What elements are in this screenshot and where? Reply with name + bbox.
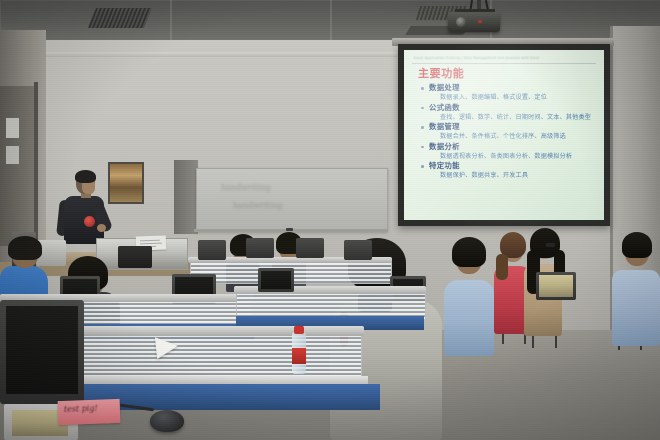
whiteboard-side-panel [174,160,198,234]
presenter-hand [97,224,106,232]
bullet-heading: 数据处理 [420,83,598,93]
slide-bullet-item: 公式函数 查找、逻辑、数学、统计、日期时间、文本、其他类型 [420,103,598,122]
slide-bullet-item: 数据处理 数据录入、数据编辑、格式设置、定位 [420,83,598,102]
monitor [258,268,294,292]
classroom-photo-scene: Excel Application Training | Data Manage… [0,0,660,440]
bottle-label [292,348,306,364]
left-door [0,86,36,246]
desk-partition-front [74,334,362,380]
wall-poster-lower [6,146,19,164]
whiteboard-writing-line1: handwriting [221,183,270,192]
monitor-right [536,272,576,300]
bullet-heading: 特定功能 [420,161,598,171]
bullet-heading: 数据分析 [420,142,598,152]
bottle-cap [294,326,304,334]
slide-title: 主要功能 [418,65,464,81]
paper-flag [155,335,179,359]
monitor-foreground [0,300,84,404]
bullet-subtext: 数据录入、数据编辑、格式设置、定位 [420,93,598,102]
bullet-subtext: 查找、逻辑、数学、统计、日期时间、文本、其他类型 [420,113,598,122]
slide-bullet-list: 数据处理 数据录入、数据编辑、格式设置、定位 公式函数 查找、逻辑、数学、统计、… [420,83,598,181]
door-frame [34,82,38,252]
bullet-heading: 公式函数 [420,103,598,113]
bullet-subtext: 数据保护、数据共享、开发工具 [420,171,598,180]
whiteboard-marker [286,228,293,231]
bullet-subtext: 数据透视表分析、各类图表分析、数据模拟分析 [420,152,598,161]
pink-sticker-text: test pig! [64,404,98,414]
student-light-blue [444,240,496,350]
presenter-hair [75,170,96,183]
bullet-heading: 数据管理 [420,122,598,132]
projector-led-icon [478,20,482,23]
slide-bullet-item: 数据管理 数据合并、条件格式、个性化排序、高级筛选 [420,122,598,141]
podium-monitor [118,246,152,268]
whiteboard: handwriting handwriting [196,168,388,232]
pink-sticker: test pig! [58,399,121,425]
glasses-icon [546,243,555,247]
whiteboard-writing-line2: handwriting [233,201,282,210]
ceiling-vent-icon [88,8,152,28]
projected-slide: Excel Application Training | Data Manage… [404,50,604,220]
slide-bullet-item: 特定功能 数据保护、数据共享、开发工具 [420,161,598,180]
projector-lens-icon [456,17,466,27]
presenter-shirt-logo [84,216,95,227]
slide-header-rule [412,63,596,64]
wall-poster-upper [6,118,19,138]
bullet-subtext: 数据合并、条件格式、个性化排序、高级筛选 [420,132,598,141]
student-blue-shirt-right [612,234,660,344]
ceiling-projector [448,12,500,32]
slide-bullet-item: 数据分析 数据透视表分析、各类图表分析、数据模拟分析 [420,142,598,161]
slide-header-line: Excel Application Training | Data Manage… [414,56,596,61]
computer-mouse [150,410,184,432]
